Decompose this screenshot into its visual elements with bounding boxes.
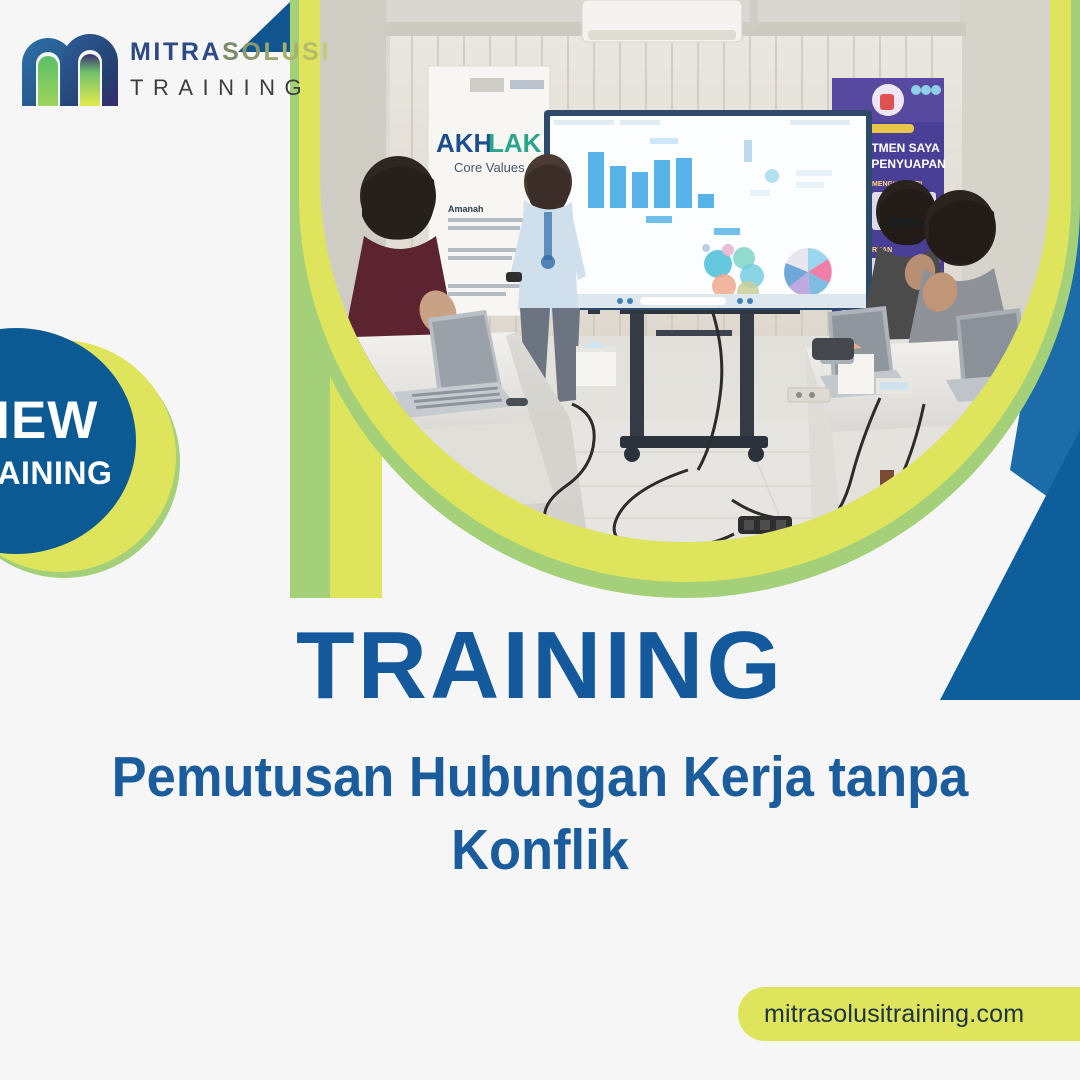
brand-name-line: MITRASOLUSI <box>130 40 331 65</box>
svg-text:Amanah: Amanah <box>448 204 484 214</box>
badge-text-group: NEW TRAINING <box>0 328 136 554</box>
mitra-solusi-m-icon <box>18 28 124 108</box>
brand-name-mitra: MITRA <box>130 38 222 66</box>
website-pill[interactable]: mitrasolusitraining.com <box>738 987 1080 1041</box>
page-title: TRAINING <box>0 616 1080 717</box>
website-url: mitrasolusitraining.com <box>764 1000 1024 1029</box>
flyer-canvas: AKH LAK Core Values Amanah <box>0 0 1080 1080</box>
brand-wordmark: MITRASOLUSI TRAINING <box>130 40 331 99</box>
brand-tagline: TRAINING <box>130 77 331 99</box>
tissue-box-left <box>576 342 616 396</box>
bag-right <box>812 338 854 360</box>
svg-text:AKH: AKH <box>436 128 492 158</box>
svg-text:LAK: LAK <box>488 128 542 158</box>
new-training-badge[interactable]: NEW TRAINING <box>0 320 210 570</box>
photo-illustration: AKH LAK Core Values Amanah <box>320 0 1050 542</box>
badge-line-new: NEW <box>0 394 98 447</box>
wall-outlet <box>788 388 830 402</box>
hero-photo-frame: AKH LAK Core Values Amanah <box>290 0 1080 598</box>
badge-line-training: TRAINING <box>0 457 112 489</box>
page-subtitle: Pemutusan Hubungan Kerja tanpa Konflik <box>75 741 1004 887</box>
headline-block: TRAINING Pemutusan Hubungan Kerja tanpa … <box>0 616 1080 887</box>
svg-text:Core Values: Core Values <box>454 160 525 175</box>
hero-photo: AKH LAK Core Values Amanah <box>320 0 1050 542</box>
brand-logo[interactable]: MITRASOLUSI TRAINING <box>18 28 278 118</box>
air-conditioner <box>582 0 758 42</box>
screen-pie-chart <box>784 248 832 296</box>
power-strip <box>738 516 792 534</box>
